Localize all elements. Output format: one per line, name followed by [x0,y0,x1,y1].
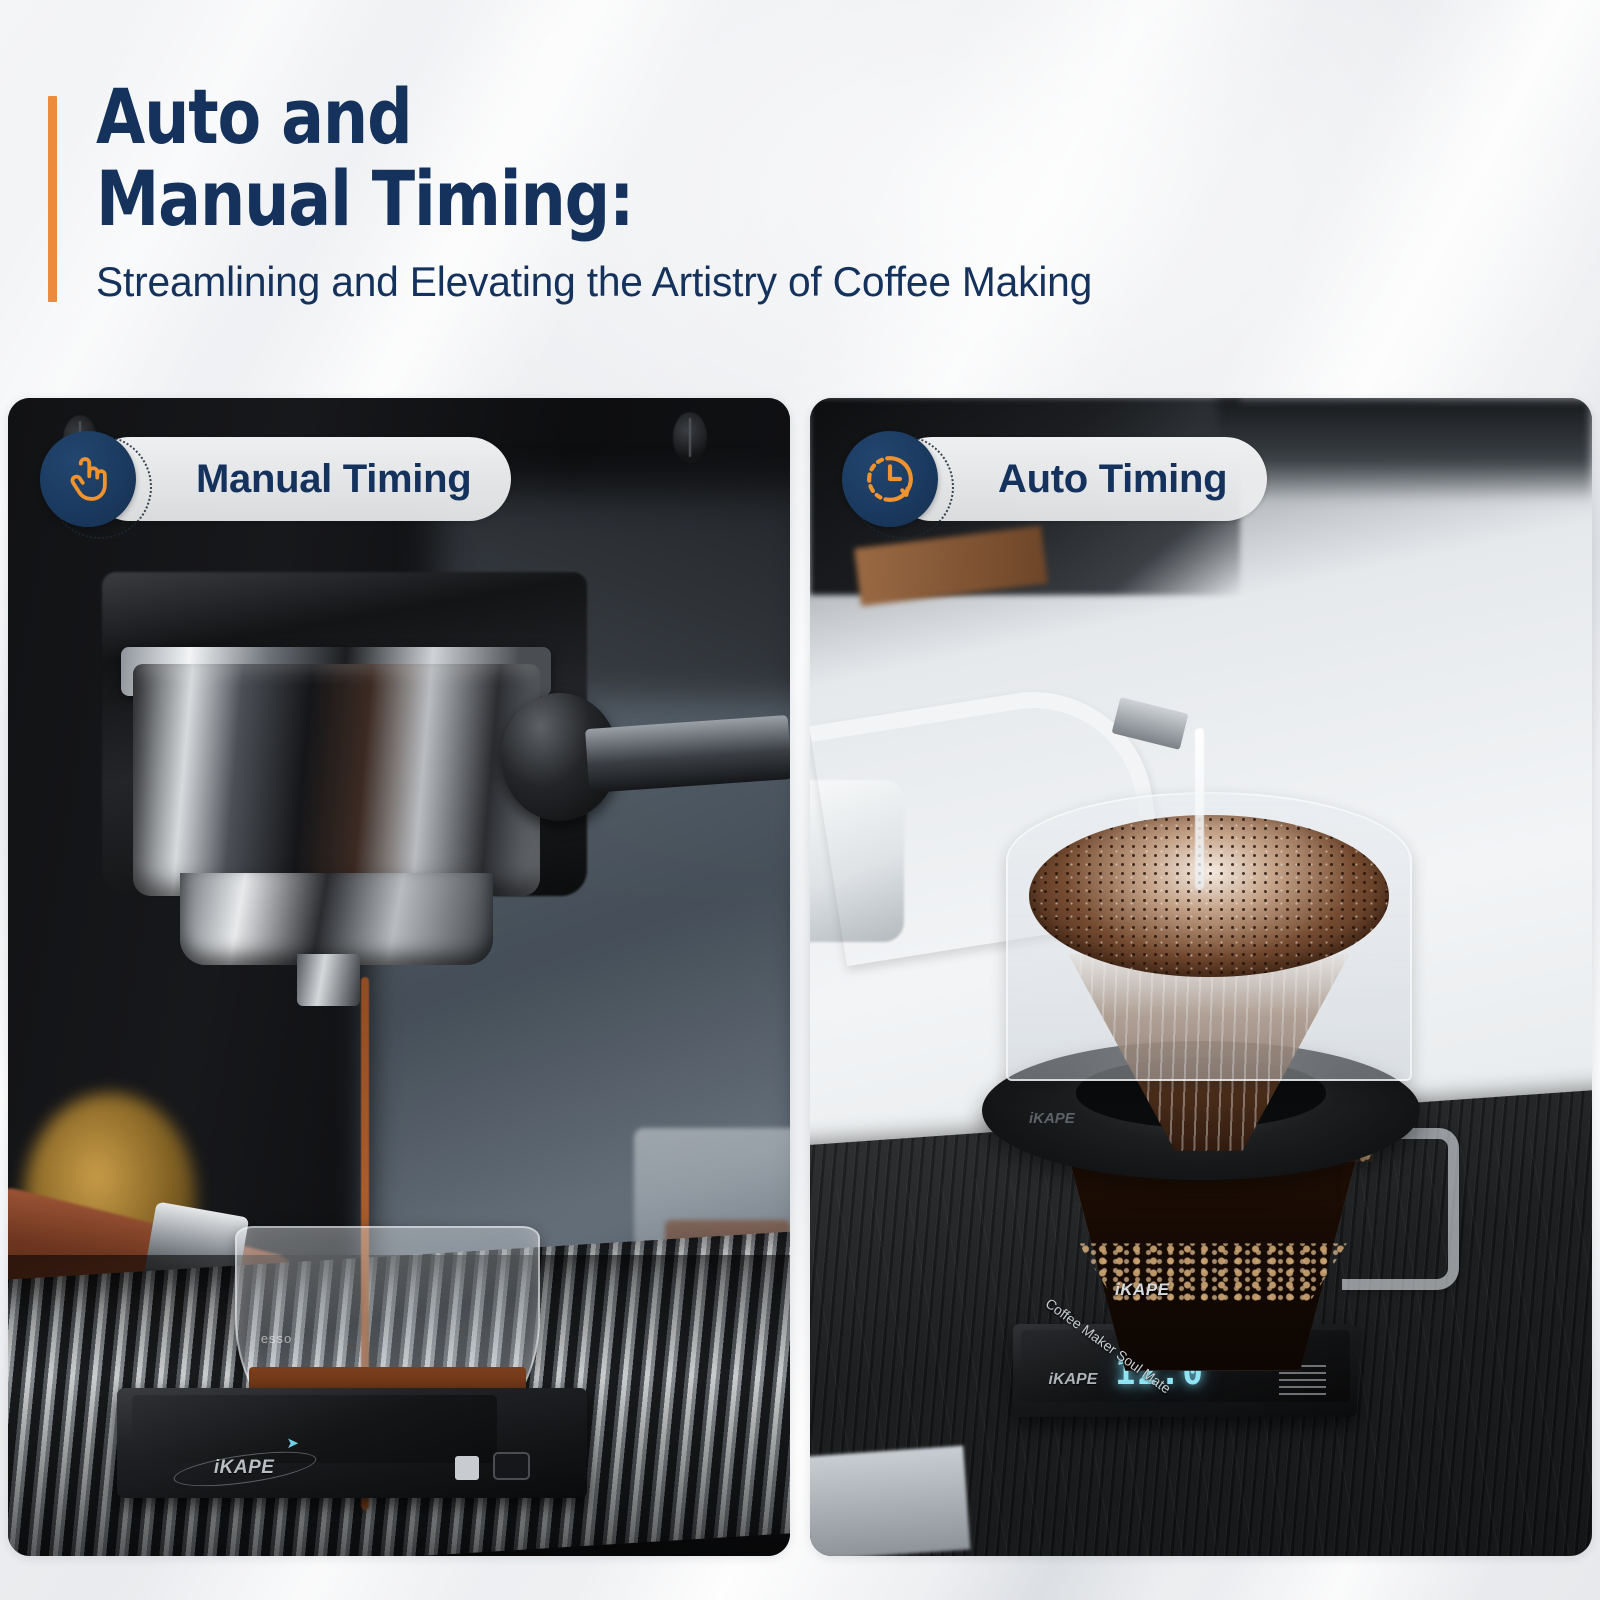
card-auto-timing[interactable]: iKAPE 12.0 iKAPE Coffee Maker Soul Mate … [810,398,1592,1556]
page-title-line-1: Auto and [96,76,1119,158]
counter-edge [810,1445,970,1556]
page-subtitle: Streamlining and Elevating the Artistry … [96,258,1473,306]
photo-pour-over: iKAPE 12.0 iKAPE Coffee Maker Soul Mate … [810,398,1592,1556]
badge-manual-timing[interactable]: Manual Timing [40,431,511,527]
hand-tap-icon [40,431,136,527]
carafe-brand-logo: iKAPE [1115,1280,1169,1300]
accent-bar [48,96,57,302]
cup-brand-label: esso [261,1331,292,1346]
ikape-scale-left: ➤ iKAPE [117,1388,586,1498]
scale-brand-logo-right: iKAPE [1049,1371,1098,1389]
badge-label-auto: Auto Timing [998,457,1227,502]
coffee-grounds-texture [1029,815,1389,977]
clock-auto-glyph [861,450,919,508]
portafilter-spout [297,954,360,1006]
page-title-line-2: Manual Timing: [96,158,1119,240]
scale-usb-port [493,1452,531,1481]
portafilter-base [180,873,493,966]
hand-tap-glyph [59,450,117,508]
clock-auto-icon [842,431,938,527]
header: Auto and Manual Timing: Streamlining and… [0,0,1600,398]
dripper-stand-logo: iKAPE [1029,1110,1075,1127]
pourover-dark-backdrop-right [1217,398,1592,502]
scale-power-button[interactable] [455,1456,478,1480]
badge-auto-timing[interactable]: Auto Timing [842,431,1267,527]
badge-label-manual: Manual Timing [196,457,471,502]
portafilter-body [133,664,540,896]
card-row: esso ➤ iKAPE Manual Timing [8,398,1592,1556]
scale-brand-logo: iKAPE [183,1452,305,1485]
water-pour-stream [1195,728,1204,890]
photo-espresso-machine: esso ➤ iKAPE [8,398,790,1556]
machine-screw-right-icon [673,412,707,463]
scale-indicator-icon: ➤ [286,1434,299,1452]
page-title: Auto and Manual Timing: [96,76,1119,240]
card-manual-timing[interactable]: esso ➤ iKAPE Manual Timing [8,398,790,1556]
